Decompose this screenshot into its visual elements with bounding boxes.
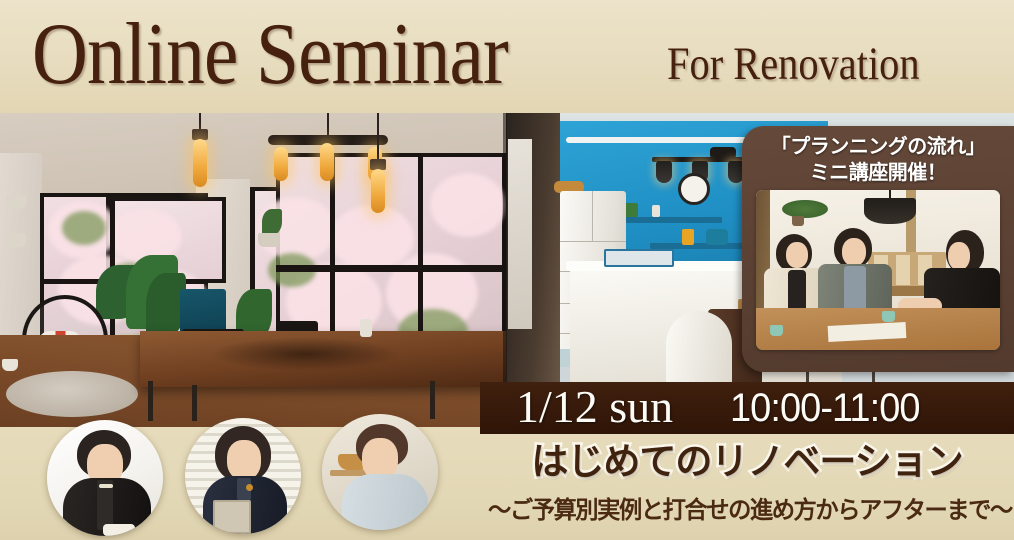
table-vase bbox=[360, 319, 372, 337]
teal-pot bbox=[706, 229, 728, 245]
wall-switch bbox=[2, 359, 18, 371]
hanging-plant bbox=[262, 209, 282, 235]
table-grain bbox=[210, 337, 400, 371]
sweater bbox=[342, 474, 428, 530]
seminar-date: 1/12 sun bbox=[516, 382, 673, 433]
client-man-face bbox=[842, 238, 866, 266]
shelf-plant bbox=[782, 200, 828, 218]
jamb-window bbox=[508, 139, 532, 329]
yellow-kettle bbox=[682, 229, 694, 245]
wall-clock bbox=[678, 173, 710, 205]
staff-face bbox=[948, 242, 970, 270]
staff-portrait-2 bbox=[185, 418, 301, 534]
date-time-bar: 1/12 sun 10:00-11:00 bbox=[480, 382, 1014, 434]
callout-line-2: ミニ講座開催！ bbox=[742, 159, 1014, 185]
cherry-blossom bbox=[430, 173, 506, 237]
seminar-main-title: はじめてのリノベーション bbox=[480, 440, 1014, 484]
lamp-cord bbox=[327, 113, 329, 135]
seminar-time: 10:00-11:00 bbox=[730, 384, 920, 432]
seminar-sub-title: ～ご予算別実例と打合せの進め方からアフターまで～ bbox=[488, 495, 1006, 525]
living-dining-room-photo bbox=[0, 113, 506, 427]
banner-header: Online Seminar For Renovation bbox=[0, 0, 1014, 113]
cherry-blossom bbox=[330, 205, 414, 271]
round-rug bbox=[6, 371, 138, 417]
callout-line-1: 「プランニングの流れ」 bbox=[742, 133, 1014, 159]
window-mullion bbox=[276, 265, 506, 272]
tea-cup bbox=[882, 311, 895, 322]
foliage bbox=[62, 211, 106, 245]
pendant-bulb bbox=[193, 139, 207, 187]
clipboard bbox=[213, 500, 251, 534]
wall-frame bbox=[6, 233, 26, 247]
seminar-banner: Online Seminar For Renovation bbox=[0, 0, 1014, 540]
lamp-cord bbox=[377, 113, 379, 161]
wall-frame bbox=[6, 195, 26, 209]
table-leg bbox=[192, 385, 197, 421]
plant-pot bbox=[792, 216, 804, 226]
fridge-seam bbox=[560, 241, 626, 242]
header-inner: Online Seminar For Renovation bbox=[0, 0, 1014, 113]
plant-pot bbox=[258, 233, 280, 247]
fridge-seam bbox=[592, 191, 593, 241]
necklace bbox=[99, 484, 113, 488]
face bbox=[227, 440, 261, 480]
callout-text: 「プランニングの流れ」 ミニ講座開催！ bbox=[742, 133, 1014, 185]
lapel-pin bbox=[246, 484, 253, 491]
spot-light bbox=[656, 161, 672, 183]
pendant-bulb bbox=[371, 169, 385, 213]
mini-seminar-callout: 「プランニングの流れ」 ミニ講座開催！ bbox=[742, 126, 1014, 372]
pendant-bulb bbox=[320, 143, 334, 181]
table-leg bbox=[148, 381, 153, 421]
wall-shelf bbox=[612, 217, 722, 223]
shelf-plant bbox=[624, 203, 638, 217]
client-woman-face bbox=[786, 242, 808, 268]
material-sample bbox=[896, 255, 910, 285]
page-title: Online Seminar bbox=[32, 5, 508, 105]
consultation-photo bbox=[756, 190, 1000, 350]
photo-seam bbox=[503, 113, 507, 427]
pendant-bulb bbox=[274, 147, 288, 181]
counter-tray bbox=[604, 249, 674, 267]
staff-portrait-1 bbox=[47, 420, 163, 536]
shelf-item bbox=[652, 205, 660, 217]
page-subtitle: For Renovation bbox=[667, 36, 920, 92]
tea-cup bbox=[770, 325, 783, 336]
staff-portrait-3 bbox=[322, 414, 438, 530]
pendant-lamp bbox=[864, 198, 916, 224]
document bbox=[103, 524, 135, 536]
